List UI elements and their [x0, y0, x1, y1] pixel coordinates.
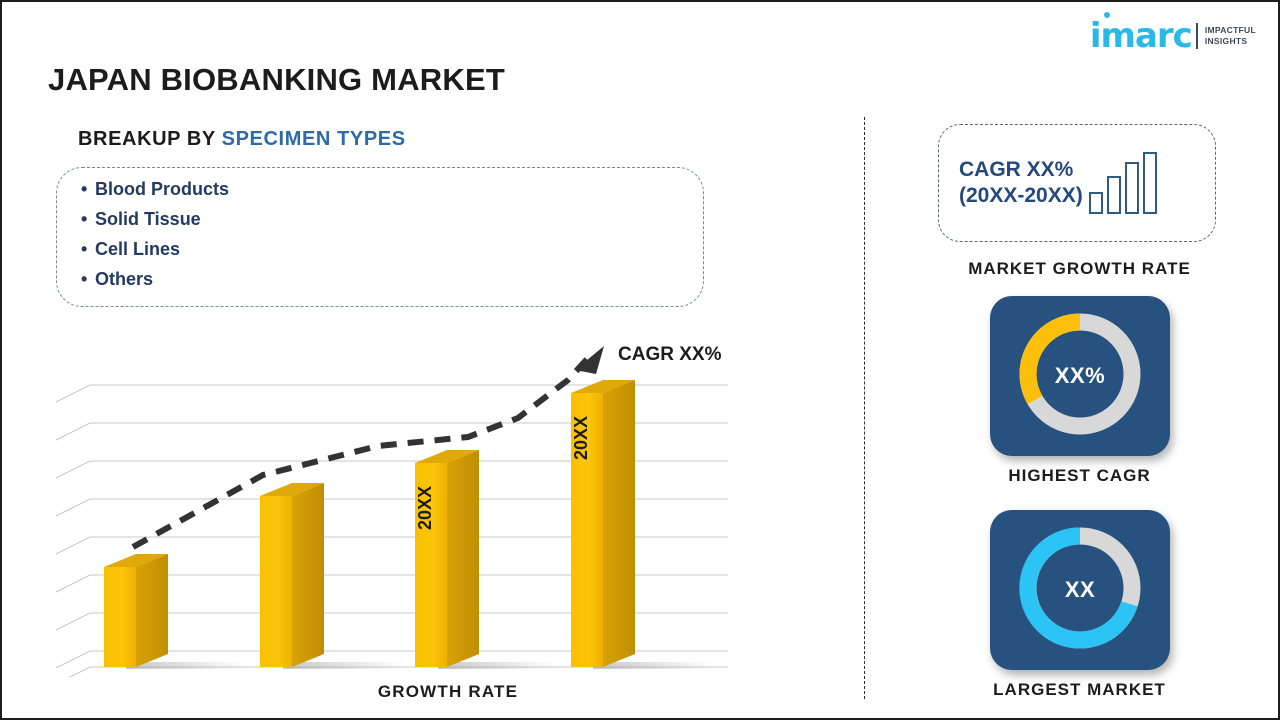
largest-market-caption: LARGEST MARKET	[902, 680, 1257, 700]
imarc-logo: imarc IMPACTFUL INSIGHTS	[1090, 16, 1256, 56]
logo-tagline: IMPACTFUL INSIGHTS	[1205, 25, 1256, 46]
bar-chart-icon	[1089, 152, 1157, 214]
bar-1	[104, 554, 168, 667]
logo-tagline-line1: IMPACTFUL	[1205, 25, 1256, 36]
bullet-icon: •	[81, 270, 95, 288]
bar-4: 20XX	[571, 380, 635, 667]
bullet-icon: •	[81, 180, 95, 198]
list-item: • Blood Products	[81, 180, 703, 198]
infographic-page: imarc IMPACTFUL INSIGHTS JAPAN BIOBANKIN…	[0, 0, 1280, 720]
chart-xaxis-label: GROWTH RATE	[298, 682, 598, 702]
specimen-types-box: • Blood Products • Solid Tissue • Cell L…	[56, 167, 704, 307]
list-item-label: Others	[95, 270, 153, 288]
list-item-label: Blood Products	[95, 180, 229, 198]
breakup-heading-highlight: SPECIMEN TYPES	[222, 128, 406, 150]
logo-divider	[1196, 23, 1198, 49]
list-item: • Cell Lines	[81, 240, 703, 258]
panel-divider	[864, 117, 865, 699]
list-item: • Solid Tissue	[81, 210, 703, 228]
breakup-heading: BREAKUP BY SPECIMEN TYPES	[78, 128, 406, 151]
cagr-period: (20XX-20XX)	[959, 183, 1083, 209]
trend-line	[133, 346, 604, 547]
list-item: • Others	[81, 270, 703, 288]
bullet-icon: •	[81, 240, 95, 258]
market-growth-rate-card: CAGR XX% (20XX-20XX)	[938, 124, 1216, 242]
logo-tagline-line2: INSIGHTS	[1205, 36, 1256, 47]
list-item-label: Cell Lines	[95, 240, 180, 258]
trend-arrow-icon	[575, 346, 604, 374]
largest-market-card: XX	[990, 510, 1170, 670]
market-growth-rate-caption: MARKET GROWTH RATE	[902, 259, 1257, 279]
highest-cagr-caption: HIGHEST CAGR	[902, 466, 1257, 486]
highest-cagr-card: XX%	[990, 296, 1170, 456]
chart-svg: 20XX 20XX	[48, 332, 768, 677]
cagr-card-text: CAGR XX% (20XX-20XX)	[959, 157, 1083, 208]
bar-2	[260, 483, 324, 667]
highest-cagr-value: XX%	[990, 296, 1170, 456]
list-item-label: Solid Tissue	[95, 210, 201, 228]
bar-4-label: 20XX	[571, 416, 591, 460]
bar-3-label: 20XX	[415, 486, 435, 530]
bullet-icon: •	[81, 210, 95, 228]
cagr-value: CAGR XX%	[959, 157, 1083, 183]
breakup-heading-prefix: BREAKUP BY	[78, 128, 222, 150]
largest-market-value: XX	[990, 510, 1170, 670]
bar-3: 20XX	[415, 450, 479, 667]
logo-wordmark-text: imarc	[1090, 16, 1192, 56]
growth-rate-bar-chart: 20XX 20XX CAGR XX% GROWTH RATE	[48, 332, 768, 720]
logo-wordmark: imarc	[1090, 19, 1192, 53]
chart-cagr-annotation: CAGR XX%	[618, 344, 721, 366]
logo-dot-icon	[1104, 12, 1110, 18]
page-title: JAPAN BIOBANKING MARKET	[48, 62, 505, 98]
